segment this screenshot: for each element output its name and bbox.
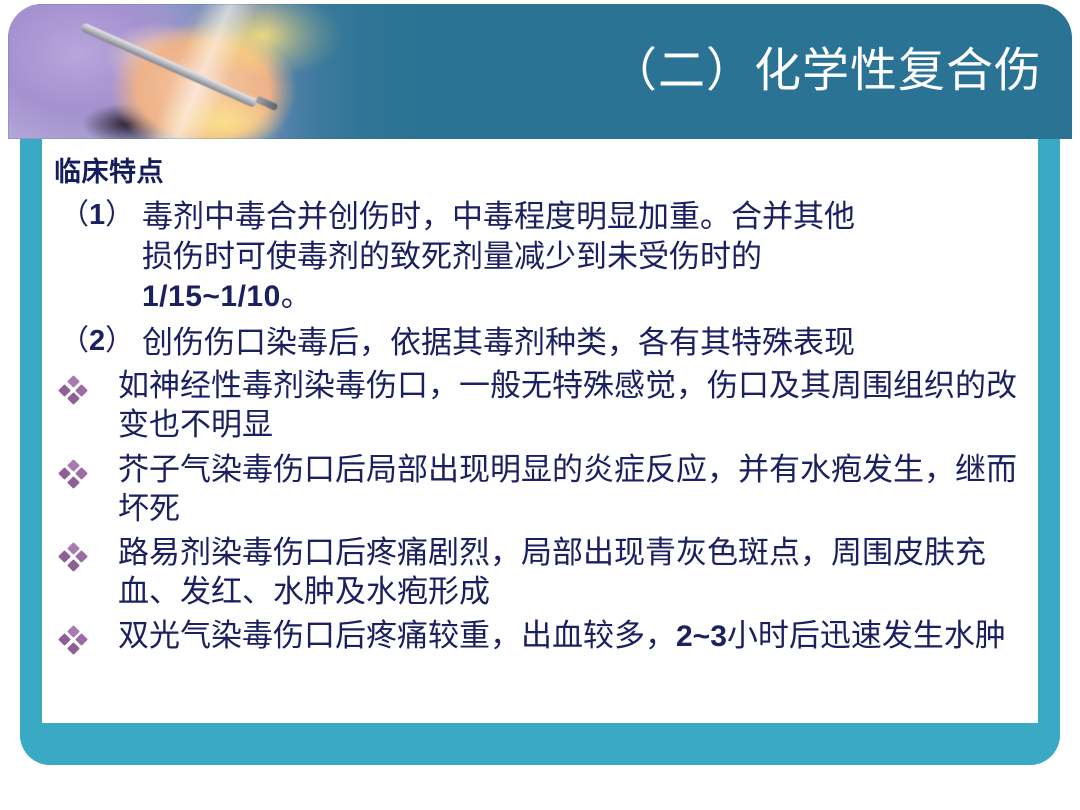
diamond-cluster-icon (60, 377, 86, 403)
numbered-item-marker: （1） (60, 197, 134, 234)
time-range-emphasis: 2~3 (676, 620, 727, 653)
marker-open-paren: （ (60, 325, 89, 357)
list-item: 芥子气染毒伤口后局部出现明显的炎症反应，并有水疱发生，继而坏死 (46, 450, 1036, 528)
section-heading: 临床特点 (54, 150, 1036, 189)
list-item-text: 如神经性毒剂染毒伤口，一般无特殊感觉，伤口及其周围组织的改变也不明显 (118, 368, 1017, 442)
list-item: 双光气染毒伤口后疼痛较重，出血较多，2~3小时后迅速发生水肿 (46, 616, 1036, 656)
slide-body: 临床特点 （1） 毒剂中毒合并创伤时，中毒程度明显加重。合并其他 损伤时可使毒剂… (46, 150, 1036, 660)
marker-close-paren: ） (105, 325, 134, 357)
frame-bottom-bar (20, 723, 1060, 765)
numbered-item-line-1: 创伤伤口染毒后，依据其毒剂种类，各有其特殊表现 (142, 323, 1036, 363)
marker-open-paren: （ (60, 199, 89, 231)
list-item-text: 芥子气染毒伤口后局部出现明显的炎症反应，并有水疱发生，继而坏死 (118, 452, 1017, 526)
numbered-item-line-2: 损伤时可使毒剂的致死剂量减少到未受伤时的 (142, 237, 1036, 277)
list-item-text-tail: 小时后迅速发生水肿 (727, 618, 1006, 653)
list-item-text: 路易剂染毒伤口后疼痛剧烈，局部出现青灰色斑点，周围皮肤充血、发红、水肿及水疱形成 (118, 535, 986, 609)
list-item: 路易剂染毒伤口后疼痛剧烈，局部出现青灰色斑点，周围皮肤充血、发红、水肿及水疱形成 (46, 533, 1036, 611)
dose-fraction-emphasis: 1/15~1/10 (142, 280, 281, 313)
slide-root: （二）化学性复合伤 临床特点 （1） 毒剂中毒合并创伤时，中毒程度明显加重。合并… (0, 0, 1080, 810)
sentence-period: 。 (281, 278, 312, 313)
numbered-item-line-1: 毒剂中毒合并创伤时，中毒程度明显加重。合并其他 (142, 197, 1036, 237)
slide-title: （二）化学性复合伤 (610, 48, 1042, 95)
list-item: 如神经性毒剂染毒伤口，一般无特殊感觉，伤口及其周围组织的改变也不明显 (46, 366, 1036, 444)
slide-header-band: （二）化学性复合伤 (8, 4, 1072, 139)
numbered-item: （1） 毒剂中毒合并创伤时，中毒程度明显加重。合并其他 损伤时可使毒剂的致死剂量… (46, 197, 1036, 317)
frame-right-bar (1038, 139, 1060, 739)
marker-number: 1 (89, 199, 105, 231)
numbered-item-marker: （2） (60, 323, 134, 360)
marker-number: 2 (89, 325, 105, 357)
diamond-cluster-icon (60, 627, 86, 653)
frame-left-bar (20, 139, 42, 739)
photo-gradient-fade (268, 4, 438, 139)
numbered-item: （2） 创伤伤口染毒后，依据其毒剂种类，各有其特殊表现 (46, 323, 1036, 363)
marker-close-paren: ） (105, 199, 134, 231)
list-item-text: 双光气染毒伤口后疼痛较重，出血较多， (118, 618, 676, 653)
diamond-cluster-icon (60, 544, 86, 570)
header-photo (8, 4, 438, 139)
diamond-cluster-icon (60, 461, 86, 487)
numbered-item-line-3: 1/15~1/10。 (142, 276, 1036, 316)
